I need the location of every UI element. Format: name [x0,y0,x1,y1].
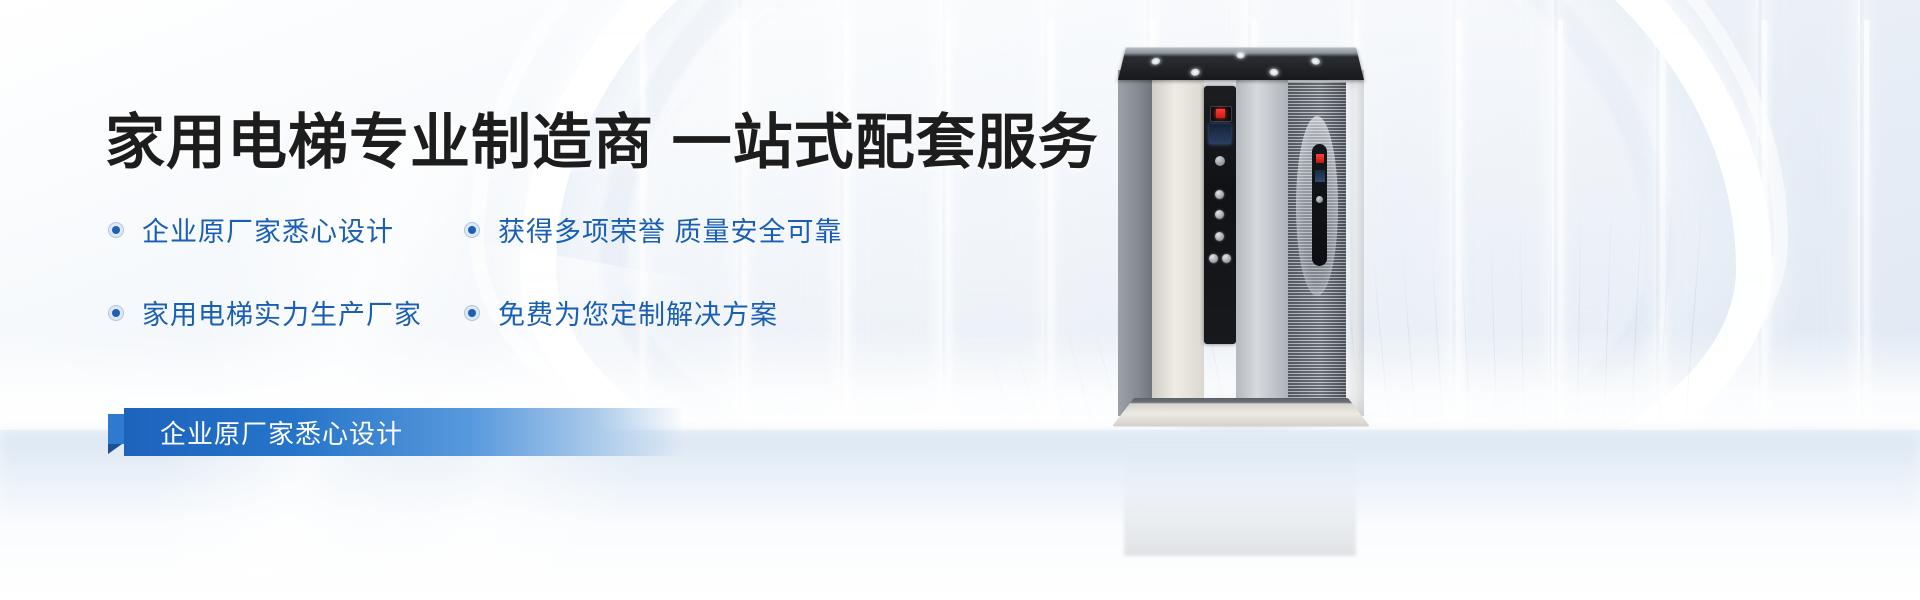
ceiling-downlight-icon [1236,52,1245,59]
elevator-floor-button [1215,210,1224,219]
elevator-reflected-button [1316,196,1323,203]
ribbon-label: 企业原厂家悉心设计 [160,414,403,451]
ribbon-bar: 企业原厂家悉心设计 [124,408,684,456]
elevator-door-open-button [1209,254,1218,263]
bullet-dot-icon [464,222,480,238]
elevator-reflected-display [1316,154,1324,163]
feature-label: 获得多项荣誉 质量安全可靠 [498,210,843,249]
ceiling-downlight-icon [1311,58,1321,65]
elevator-center-panel [1236,72,1288,416]
elevator-floor-reflection [1124,436,1356,556]
elevator-floor-display [1210,106,1232,122]
ceiling-downlight-icon [1151,58,1161,65]
elevator-mirror-wall [1288,82,1346,416]
elevator-floor-button [1215,232,1224,241]
feature-item: 家用电梯实力生产厂家 [108,293,464,332]
bullet-dot-icon [464,305,480,321]
feature-row: 企业原厂家悉心设计 获得多项荣誉 质量安全可靠 [108,210,1008,249]
elevator-reflected-screen [1315,170,1325,182]
feature-label: 免费为您定制解决方案 [498,293,778,332]
promo-banner: 家用电梯专业制造商 一站式配套服务 企业原厂家悉心设计 获得多项荣誉 质量安全可… [0,0,1920,600]
elevator-alarm-button [1215,156,1225,166]
product-image-home-elevator [1118,38,1364,416]
feature-item: 免费为您定制解决方案 [464,293,820,332]
feature-list: 企业原厂家悉心设计 获得多项荣誉 质量安全可靠 家用电梯实力生产厂家 免费为您定… [108,210,1008,376]
feature-label: 企业原厂家悉心设计 [142,210,394,249]
ceiling-downlight-icon [1269,69,1278,76]
copy-block: 家用电梯专业制造商 一站式配套服务 企业原厂家悉心设计 获得多项荣誉 质量安全可… [0,0,1120,600]
feature-row: 家用电梯实力生产厂家 免费为您定制解决方案 [108,293,1008,332]
elevator-info-screen [1209,124,1231,144]
elevator-floor-button [1215,190,1224,199]
bullet-dot-icon [108,222,124,238]
elevator-left-wall [1118,70,1152,416]
ceiling-downlight-icon [1190,69,1200,76]
elevator-ceiling [1118,47,1364,80]
feature-item: 获得多项荣誉 质量安全可靠 [464,210,820,249]
bullet-dot-icon [108,305,124,321]
elevator-door-close-button [1222,254,1231,263]
elevator-reflected-control-panel [1312,144,1327,266]
feature-item: 企业原厂家悉心设计 [108,210,464,249]
elevator-floor-tile [1112,398,1370,426]
feature-label: 家用电梯实力生产厂家 [142,293,422,332]
elevator-right-wall [1346,78,1364,416]
elevator-wall-panel [1152,72,1204,416]
elevator-control-panel [1204,86,1236,344]
page-title: 家用电梯专业制造商 一站式配套服务 [105,113,1099,173]
